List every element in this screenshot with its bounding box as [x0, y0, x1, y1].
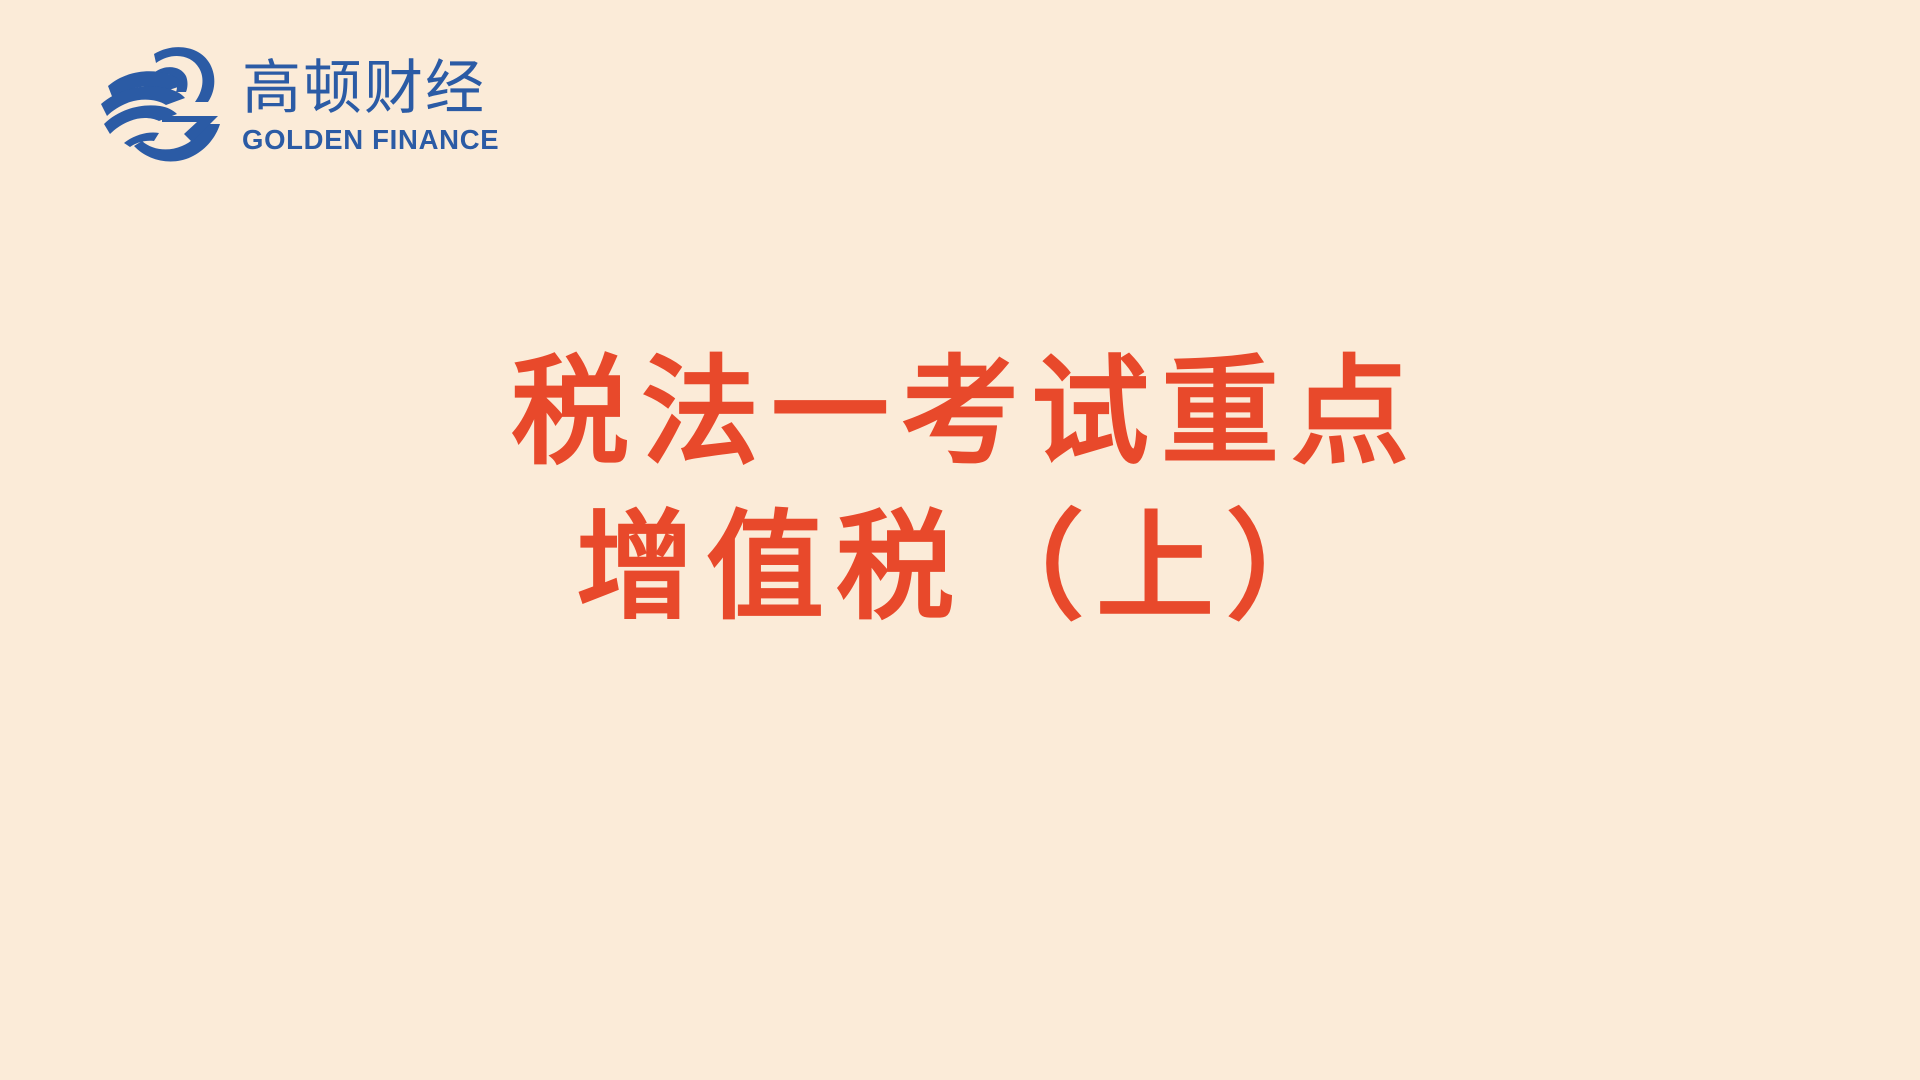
slide-title-line-1: 税法一考试重点 [0, 342, 1920, 481]
slide-title-block: 税法一考试重点 增值税（上） [0, 342, 1920, 636]
brand-name-cn: 高顿财经 [242, 58, 499, 117]
slide-canvas: 高顿财经 GOLDEN FINANCE 税法一考试重点 增值税（上） [0, 0, 1920, 1080]
brand-name-en: GOLDEN FINANCE [242, 126, 499, 154]
brand-wordmark: 高顿财经 GOLDEN FINANCE [242, 42, 499, 154]
golden-finance-globe-wing-mark-icon [96, 42, 228, 168]
brand-logo[interactable]: 高顿财经 GOLDEN FINANCE [96, 42, 499, 168]
slide-title-line-2: 增值税（上） [0, 497, 1920, 636]
